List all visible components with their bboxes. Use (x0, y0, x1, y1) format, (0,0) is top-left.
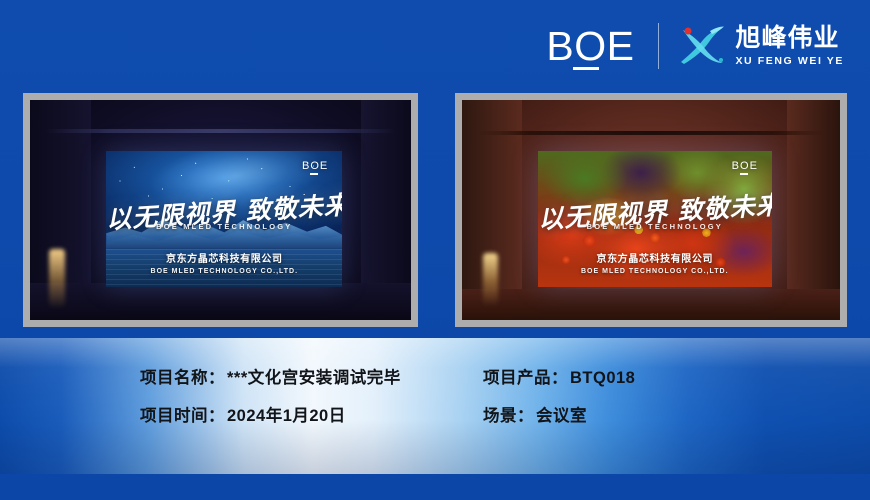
photo-right-image: BOE 以无限视界 致敬未来 BOE MLED TECHNOLOGY 京东方晶芯… (462, 100, 840, 320)
photo-right: BOE 以无限视界 致敬未来 BOE MLED TECHNOLOGY 京东方晶芯… (455, 93, 847, 327)
boe-logo: BOE (546, 26, 638, 67)
info-scene-label: 场景： (483, 402, 534, 426)
photo-left-image: BOE 以无限视界 致敬未来 BOE MLED TECHNOLOGY 京东方晶芯… (30, 100, 411, 320)
info-grid: 项目名称： ***文化宫安装调试完毕 项目时间： 2024年1月20日 项目产品… (0, 338, 870, 474)
info-project-name: 项目名称： ***文化宫安装调试完毕 (140, 364, 420, 388)
photo-left: BOE 以无限视界 致敬未来 BOE MLED TECHNOLOGY 京东方晶芯… (23, 93, 418, 327)
boe-logo-text: BOE (546, 26, 634, 67)
room-lamp-glow (49, 249, 65, 307)
room-floor (30, 283, 411, 320)
led-subtitle-left: BOE MLED TECHNOLOGY (106, 222, 342, 231)
led-subtitle-right: BOE MLED TECHNOLOGY (538, 222, 772, 231)
xufeng-swoosh-icon (677, 23, 727, 69)
led-panel-right: BOE 以无限视界 致敬未来 BOE MLED TECHNOLOGY 京东方晶芯… (538, 151, 772, 287)
info-project-product-value: BTQ018 (570, 369, 635, 388)
led-company-en-left: BOE MLED TECHNOLOGY CO.,LTD. (106, 268, 342, 275)
led-boe-watermark-left: BOE (302, 160, 328, 175)
room-floor (462, 289, 840, 320)
room-ceiling-beam (477, 131, 825, 135)
info-banner: 项目名称： ***文化宫安装调试完毕 项目时间： 2024年1月20日 项目产品… (0, 338, 870, 474)
info-project-product: 项目产品： BTQ018 (483, 364, 870, 388)
led-company-en-right: BOE MLED TECHNOLOGY CO.,LTD. (538, 268, 772, 275)
info-project-date: 项目时间： 2024年1月20日 (140, 402, 420, 426)
boe-logo-underline-icon (573, 67, 599, 70)
info-project-date-label: 项目时间： (140, 402, 225, 426)
info-column-right: 项目产品： BTQ018 场景： 会议室 (420, 364, 870, 474)
info-project-product-label: 项目产品： (483, 364, 568, 388)
led-boe-watermark-right: BOE (732, 160, 758, 175)
room-ceiling-beam (45, 129, 396, 133)
info-project-name-value: ***文化宫安装调试完毕 (227, 364, 401, 388)
info-column-left: 项目名称： ***文化宫安装调试完毕 项目时间： 2024年1月20日 (0, 364, 420, 474)
led-company-cn-right: 京东方晶芯科技有限公司 (538, 250, 772, 265)
partner-name-en: XU FENG WEI YE (735, 55, 844, 67)
led-company-cn-left: 京东方晶芯科技有限公司 (106, 250, 342, 265)
header-logo-bar: BOE 旭峰伟业 XU FENG WEI YE (546, 18, 844, 74)
info-scene-value: 会议室 (536, 402, 587, 426)
logo-divider (658, 23, 659, 69)
led-boe-underline-icon (310, 173, 318, 175)
info-project-name-label: 项目名称： (140, 364, 225, 388)
room-lamp-glow (483, 253, 498, 305)
partner-logo: 旭峰伟业 XU FENG WEI YE (677, 23, 844, 69)
partner-name-block: 旭峰伟业 XU FENG WEI YE (735, 25, 844, 66)
led-boe-underline-icon (740, 173, 748, 175)
led-panel-left: BOE 以无限视界 致敬未来 BOE MLED TECHNOLOGY 京东方晶芯… (106, 151, 342, 287)
info-project-date-value: 2024年1月20日 (227, 402, 346, 426)
partner-name-cn: 旭峰伟业 (735, 25, 844, 51)
info-scene: 场景： 会议室 (483, 402, 870, 426)
slide-root: BOE 旭峰伟业 XU FENG WEI YE (0, 0, 870, 500)
